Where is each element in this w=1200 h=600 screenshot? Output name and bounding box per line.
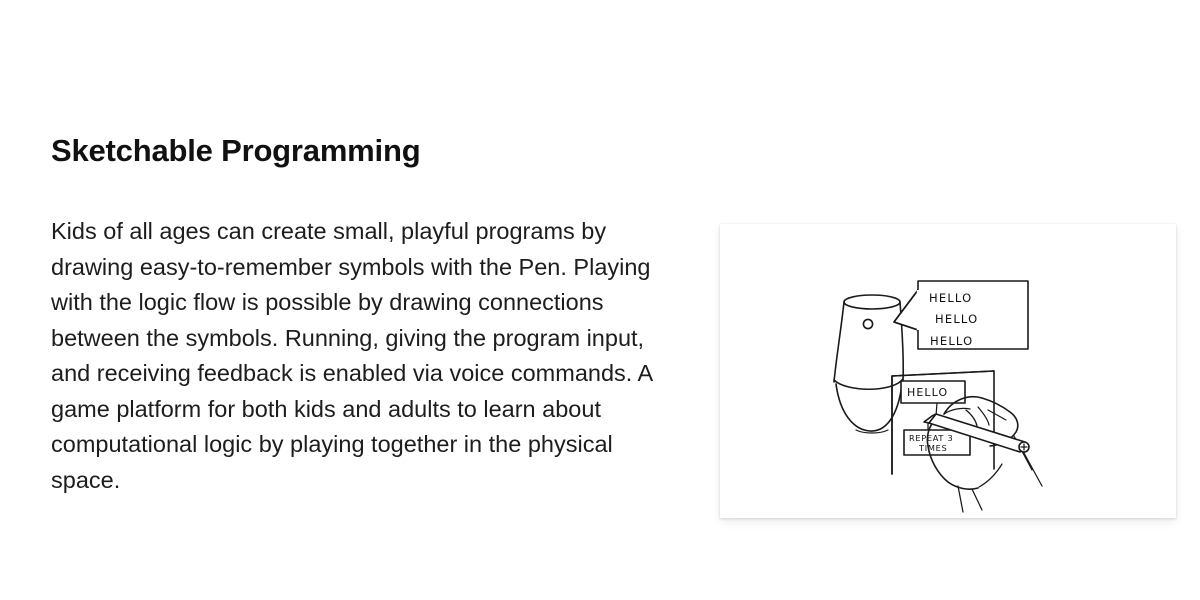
- speech-line-2: HELLO: [935, 312, 978, 326]
- speech-line-1: HELLO: [929, 291, 972, 305]
- repeat-node-label-2: TIMES: [918, 443, 947, 453]
- speech-bubble: HELLO HELLO HELLO: [894, 281, 1028, 349]
- section-body-text: Kids of all ages can create small, playf…: [51, 214, 666, 498]
- hello-node: HELLO: [901, 381, 965, 403]
- illustration-card: HELLO HELLO HELLO HELLO RE: [720, 224, 1176, 518]
- hello-node-label: HELLO: [907, 386, 948, 399]
- sketch-illustration: HELLO HELLO HELLO HELLO RE: [720, 224, 1176, 518]
- speech-line-3: HELLO: [930, 334, 973, 348]
- repeat-node-label-1: REPEAT 3: [909, 433, 953, 443]
- page-root: Sketchable Programming Kids of all ages …: [0, 0, 1200, 600]
- text-column: Sketchable Programming Kids of all ages …: [51, 132, 671, 498]
- page-title: Sketchable Programming: [51, 132, 671, 170]
- speaker-device-icon: [834, 295, 903, 433]
